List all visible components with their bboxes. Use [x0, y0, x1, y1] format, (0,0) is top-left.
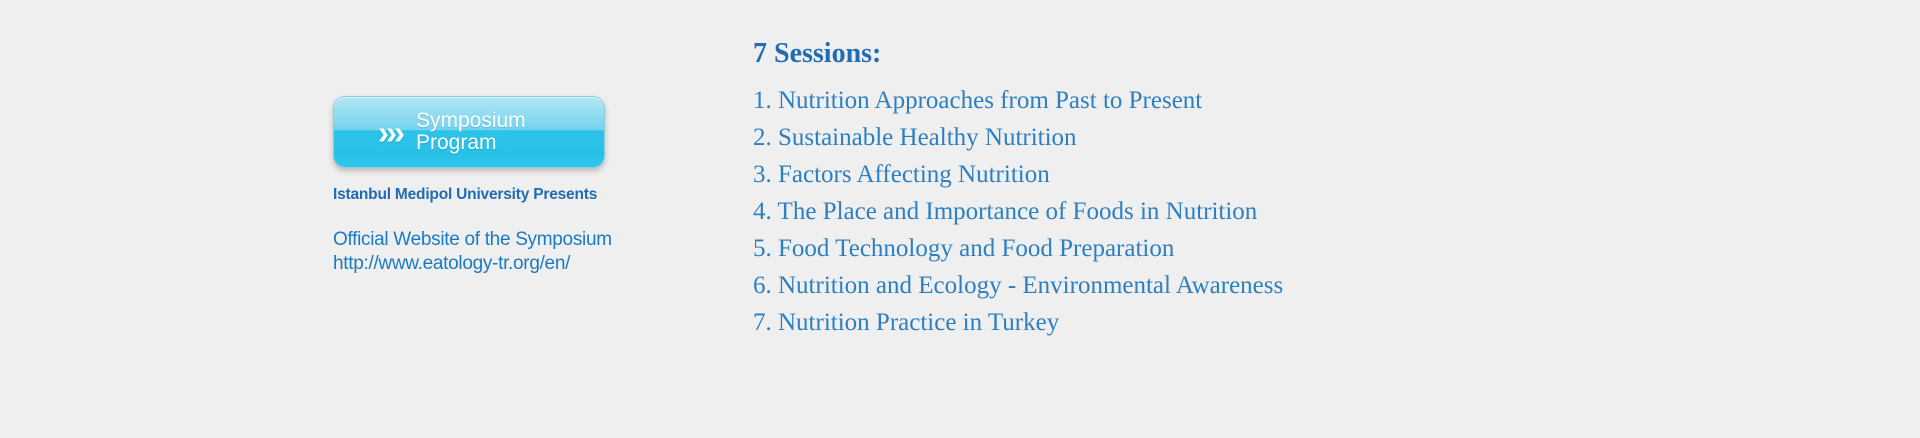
session-item: 2. Sustainable Healthy Nutrition — [753, 119, 1653, 156]
session-item: 5. Food Technology and Food Preparation — [753, 230, 1653, 267]
session-item: 3. Factors Affecting Nutrition — [753, 156, 1653, 193]
session-item: 6. Nutrition and Ecology - Environmental… — [753, 267, 1653, 304]
website-label: Official Website of the Symposium — [333, 229, 612, 250]
symposium-website-link[interactable]: http://www.eatology-tr.org/en/ — [333, 252, 633, 276]
symposium-program-button-label: Symposium Program — [416, 110, 526, 155]
left-column: ››› Symposium Program Istanbul Medipol U… — [333, 96, 633, 277]
right-column: 7 Sessions: 1. Nutrition Approaches from… — [753, 38, 1653, 341]
poster-canvas: ››› Symposium Program Istanbul Medipol U… — [0, 0, 1920, 438]
session-item: 7. Nutrition Practice in Turkey — [753, 304, 1653, 341]
website-block: Official Website of the Symposium http:/… — [333, 228, 633, 277]
presenter-line: Istanbul Medipol University Presents — [333, 186, 633, 204]
triple-chevron-right-icon: ››› — [378, 116, 402, 149]
symposium-program-button[interactable]: ››› Symposium Program — [333, 96, 605, 168]
sessions-heading: 7 Sessions: — [753, 38, 1653, 70]
sessions-list: 1. Nutrition Approaches from Past to Pre… — [753, 82, 1653, 341]
session-item: 1. Nutrition Approaches from Past to Pre… — [753, 82, 1653, 119]
button-label-line-1: Symposium — [416, 109, 526, 132]
button-label-line-2: Program — [416, 132, 526, 154]
session-item: 4. The Place and Importance of Foods in … — [753, 193, 1653, 230]
